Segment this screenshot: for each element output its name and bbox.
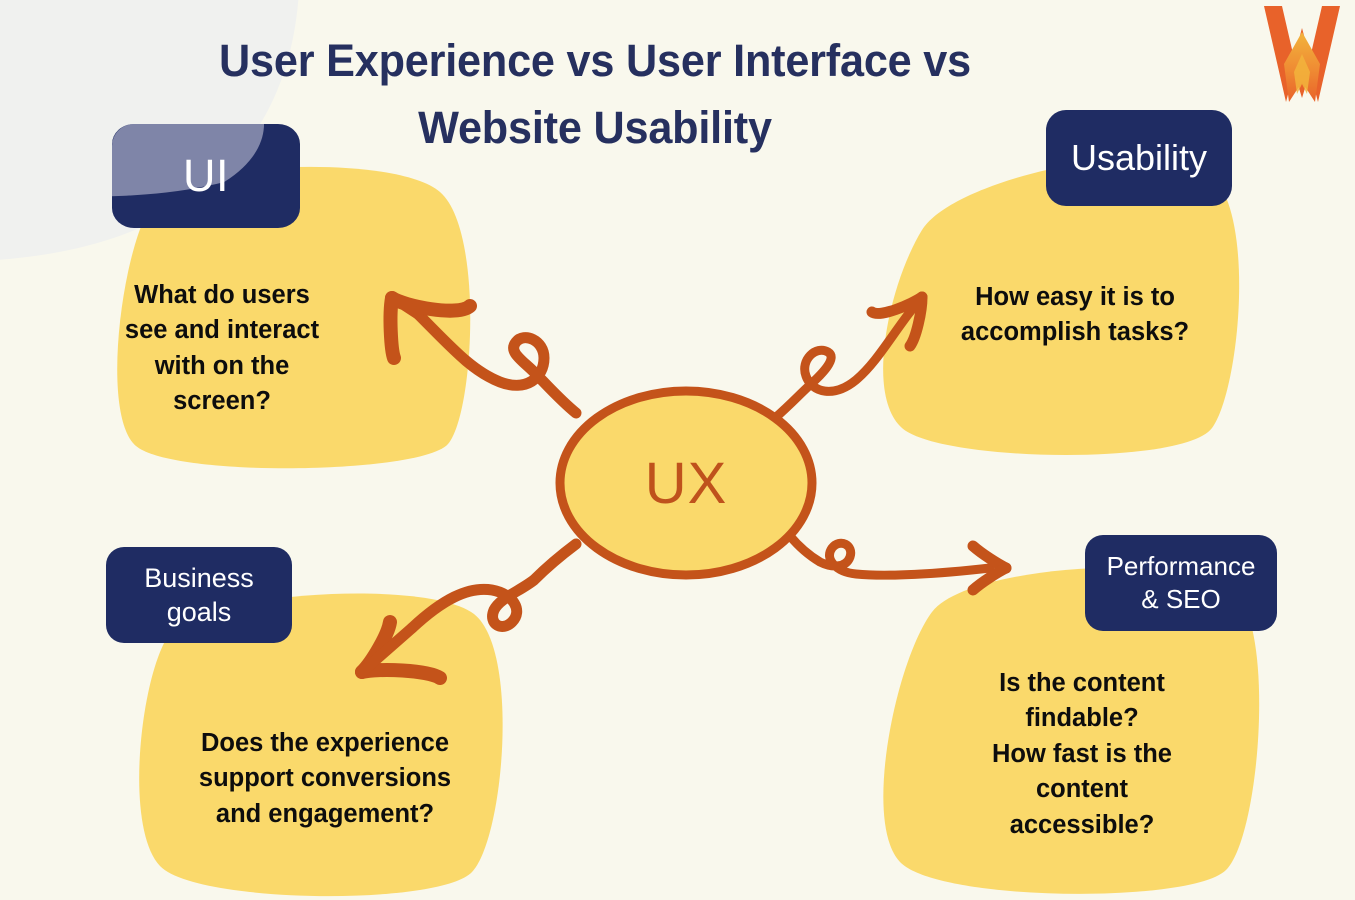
badge-ui-label: UI [183, 150, 229, 202]
badge-performance-seo-label: Performance & SEO [1107, 550, 1256, 616]
ux-ellipse-shape [551, 384, 821, 582]
badge-usability[interactable]: Usability [1046, 110, 1232, 206]
w-flame-logo-icon [1258, 2, 1346, 106]
badge-performance-seo[interactable]: Performance & SEO [1085, 535, 1277, 631]
curly-arrow-up-left-icon [391, 298, 576, 413]
infographic-canvas: UX User Experience vs User Interface vs … [0, 0, 1355, 900]
badge-ui[interactable]: UI [112, 124, 300, 228]
badge-usability-label: Usability [1071, 137, 1207, 179]
badge-business-goals[interactable]: Business goals [106, 547, 292, 643]
badge-business-goals-label: Business goals [144, 561, 254, 629]
curly-arrow-down-right-icon [790, 536, 1006, 590]
ux-center-node: UX [551, 384, 821, 582]
curly-arrow-down-left-icon [362, 544, 576, 678]
